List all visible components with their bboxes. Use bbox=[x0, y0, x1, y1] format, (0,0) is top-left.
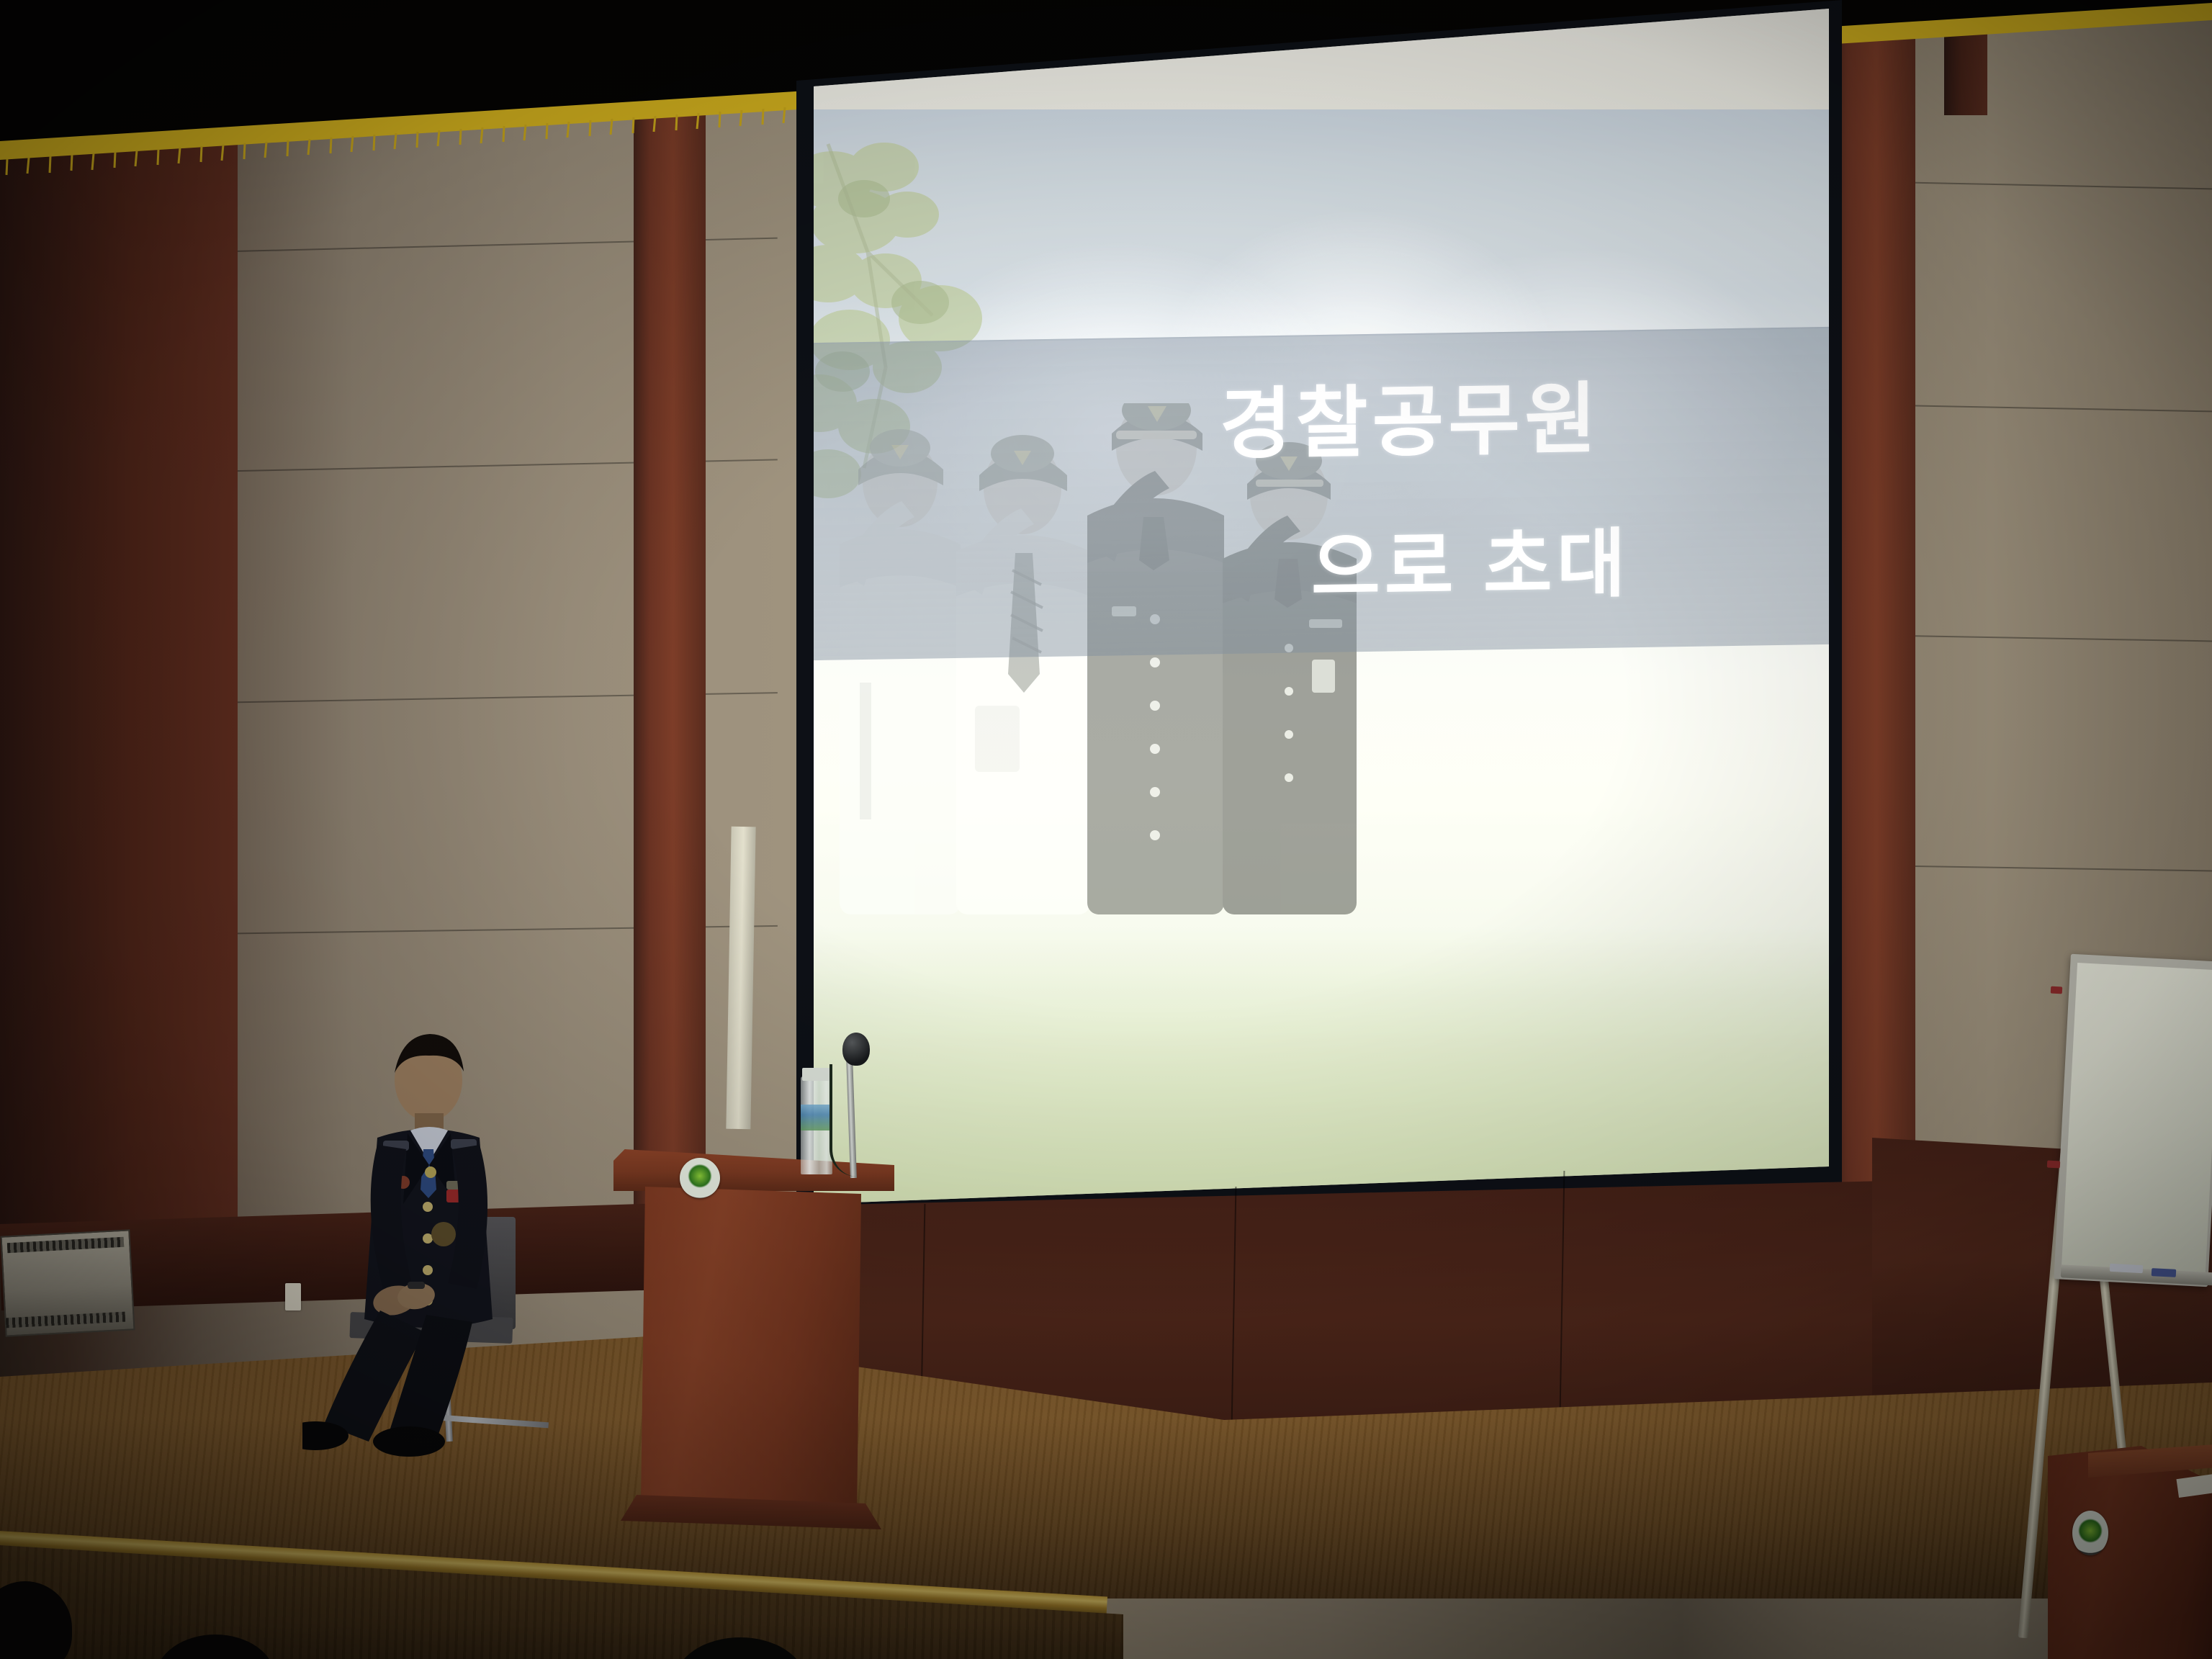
slide-title-line1: 경찰공무원 bbox=[1220, 356, 1601, 474]
wall-panel-left bbox=[0, 94, 238, 1260]
microphone-cable bbox=[829, 1064, 857, 1177]
microphone-head[interactable] bbox=[842, 1033, 870, 1066]
podium-emblem bbox=[680, 1158, 720, 1198]
bottle-label bbox=[801, 1105, 832, 1130]
slide-title-line2: 으로 초대 bbox=[1311, 503, 1630, 616]
whiteboard-marker[interactable] bbox=[2110, 1264, 2144, 1273]
auditorium-scene: 경찰공무원 으로 초대 bbox=[0, 0, 2212, 1659]
whiteboard-clip bbox=[2051, 986, 2063, 994]
podium-right-emblem bbox=[2072, 1511, 2108, 1555]
wall-outlet[interactable] bbox=[285, 1283, 301, 1310]
seated-police-officer bbox=[302, 1028, 547, 1460]
wall-column bbox=[634, 108, 706, 1231]
whiteboard-clip bbox=[2047, 1161, 2060, 1169]
whiteboard-surface[interactable] bbox=[2062, 963, 2212, 1272]
bottle-cap bbox=[802, 1068, 831, 1081]
wall-column bbox=[1829, 29, 1915, 1296]
slide-canvas: 경찰공무원 으로 초대 bbox=[814, 0, 1829, 1217]
projection-screen: 경찰공무원 으로 초대 bbox=[814, 0, 1829, 1217]
whiteboard-marker[interactable] bbox=[2152, 1268, 2177, 1277]
podium-body[interactable] bbox=[641, 1187, 866, 1512]
